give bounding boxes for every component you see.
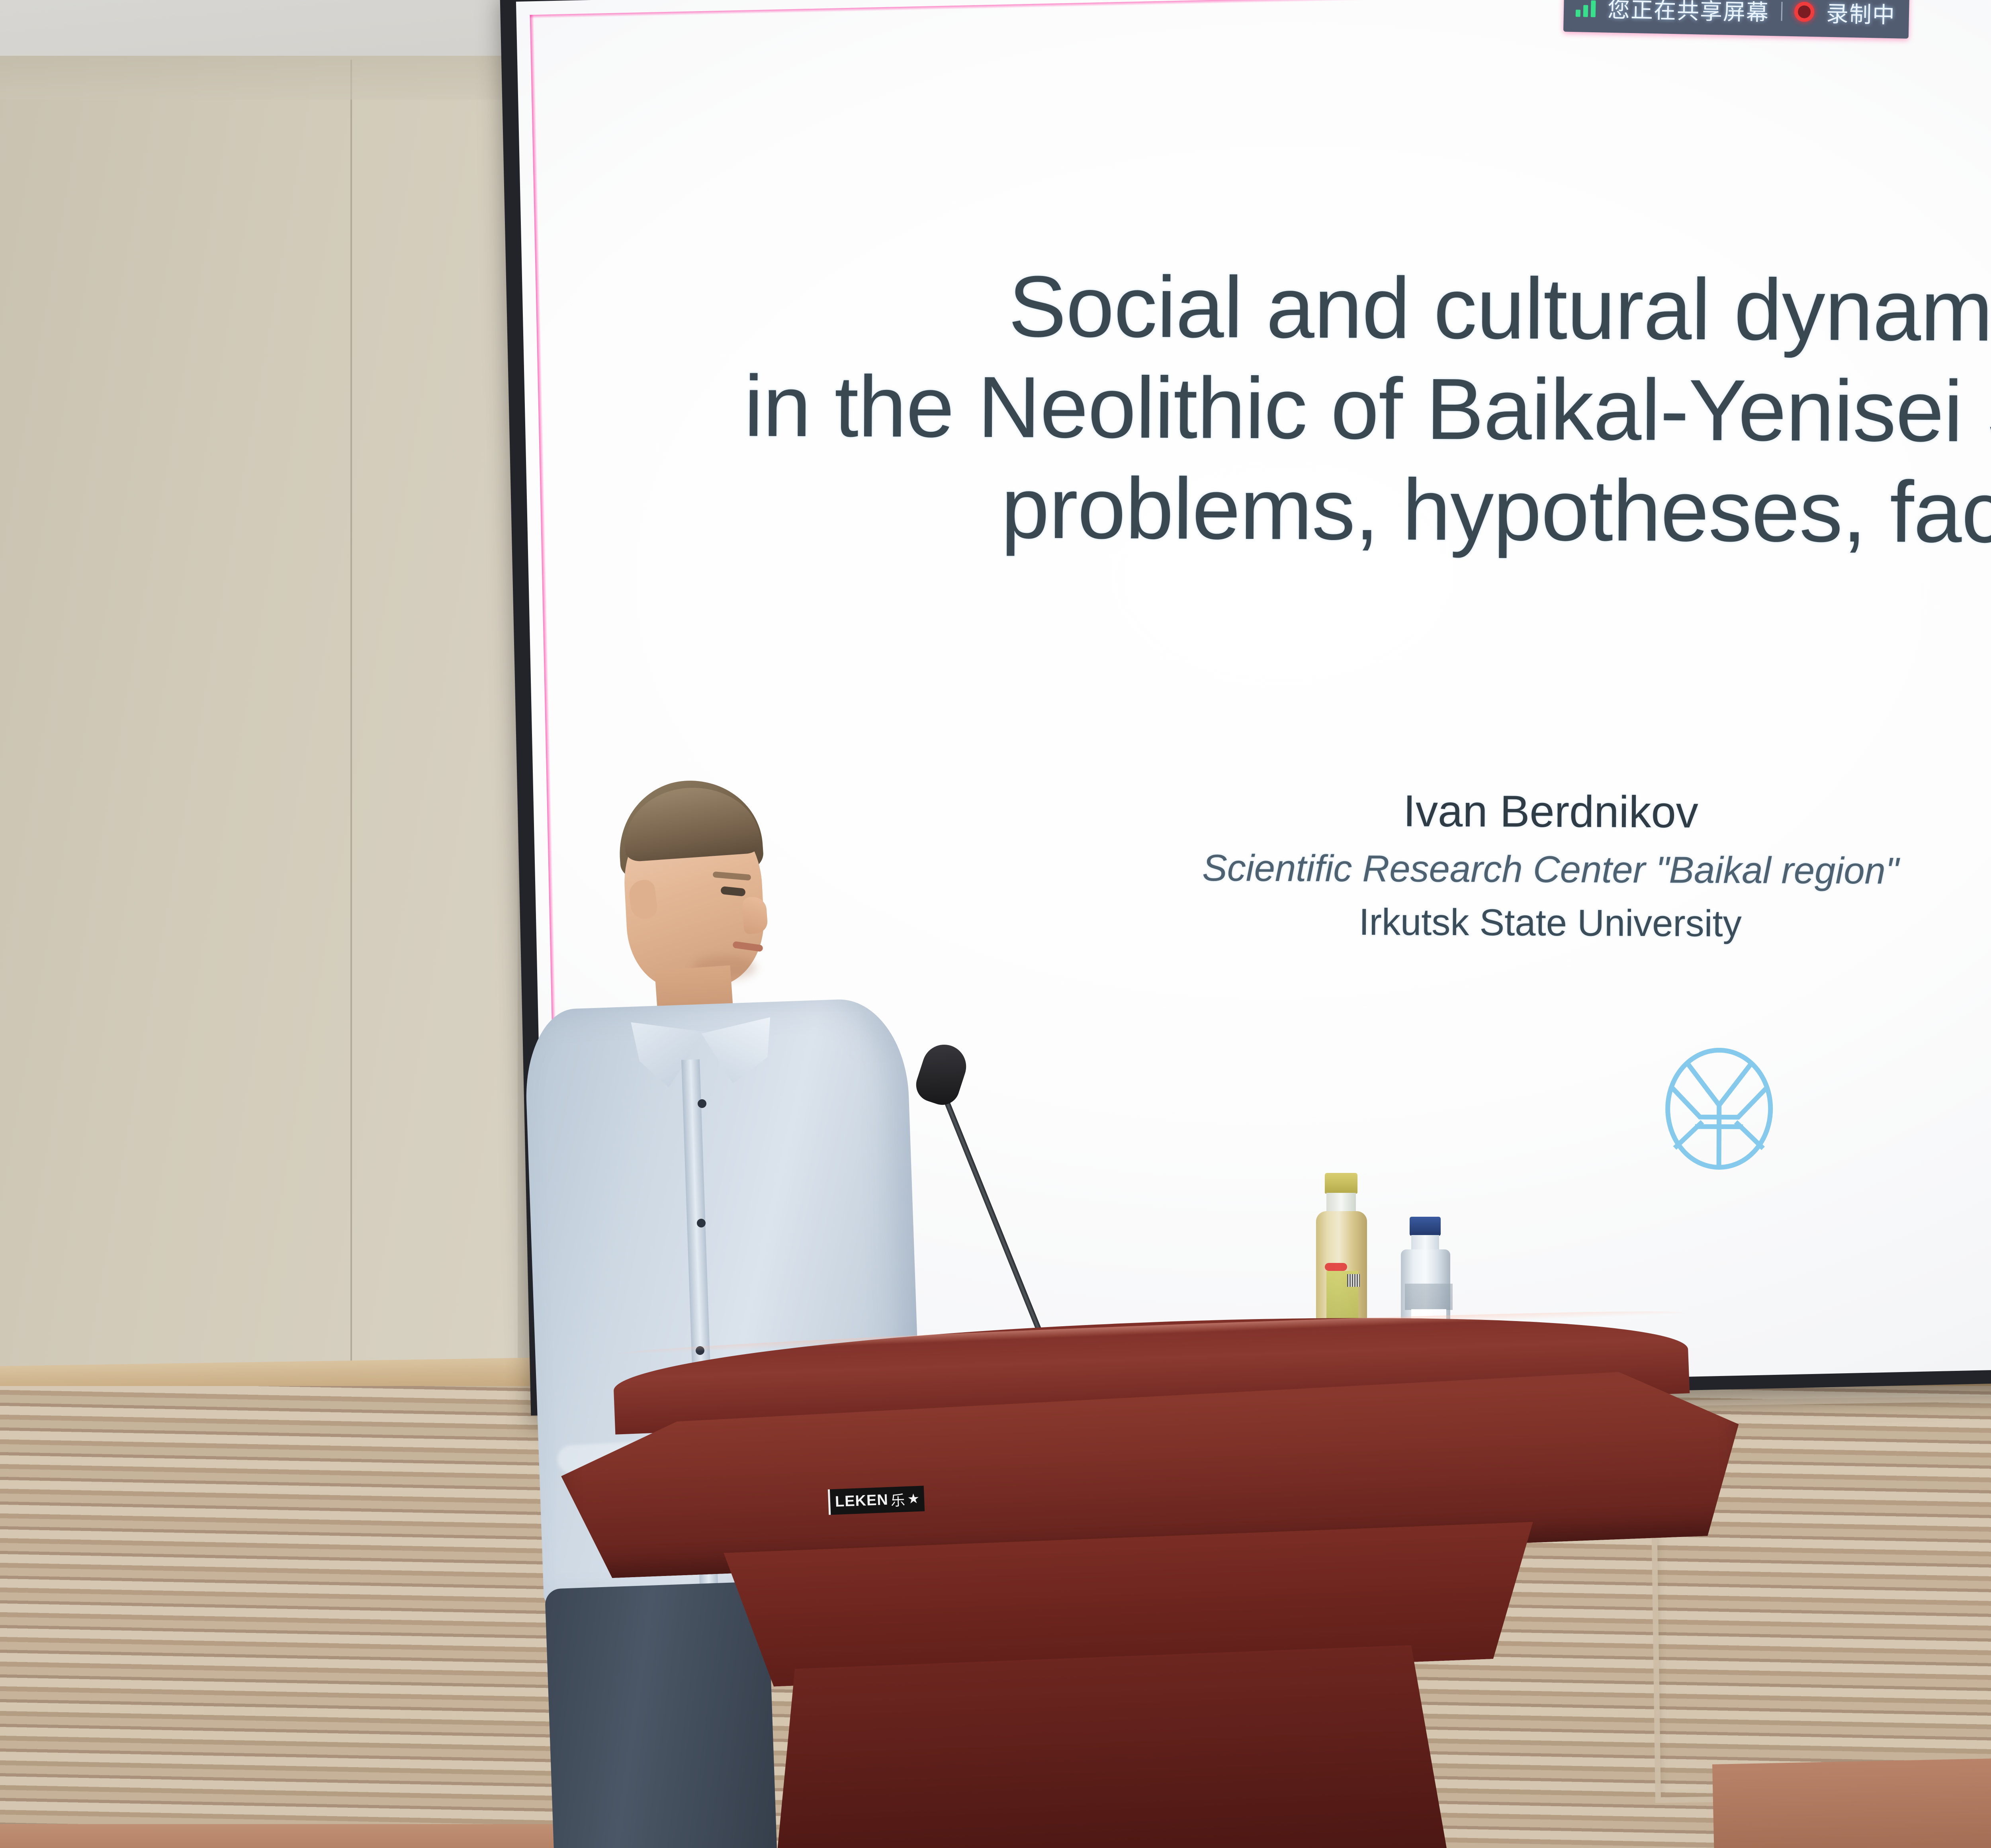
tea-bottle-cap <box>1325 1173 1357 1194</box>
slide-author-block: Ivan Berdnikov Scientific Research Cente… <box>953 781 1991 949</box>
presenter-hair-top <box>621 783 761 862</box>
wall-left-panel <box>0 56 518 1410</box>
baikal-region-emblem-icon <box>1659 1043 1779 1175</box>
slide-title: Social and cultural dynamics in the Neol… <box>704 255 1991 564</box>
podium-brand-star-icon: ★ <box>907 1491 920 1507</box>
lecture-hall-scene: Social and cultural dynamics in the Neol… <box>0 0 1991 1848</box>
water-bottle-cap <box>1410 1217 1441 1236</box>
author-organization: Scientific Research Center "Baikal regio… <box>953 842 1991 896</box>
tea-bottle-neck <box>1326 1193 1356 1214</box>
slide-title-line-1: Social and cultural dynamics <box>788 256 1991 363</box>
banner-divider <box>1781 2 1783 21</box>
podium: LEKEN 乐 ★ <box>550 1322 1816 1848</box>
floor-strip-left <box>0 1824 617 1848</box>
podium-brand-name: LEKEN <box>835 1491 888 1510</box>
podium-brand-cn: 乐 <box>890 1489 906 1510</box>
podium-base <box>753 1643 1461 1848</box>
presenter-shirt-button <box>698 1099 706 1108</box>
presenter-shirt-button <box>697 1219 706 1227</box>
signal-bars-icon <box>1576 0 1596 17</box>
slide-title-line-3: problems, hypotheses, facts <box>755 457 1991 564</box>
slide-title-line-2: in the Neolithic of Baikal-Yenisei Siber… <box>704 356 1991 464</box>
share-status-text: 您正在共享屏幕 <box>1607 0 1770 27</box>
water-bottle-label-top <box>1405 1284 1453 1310</box>
presenter-nose <box>742 896 768 934</box>
author-name: Ivan Berdnikov <box>953 781 1991 842</box>
recording-status-text: 录制中 <box>1826 0 1896 29</box>
water-bottle-neck <box>1411 1235 1439 1251</box>
qr-code-icon <box>1347 1274 1360 1287</box>
wall-seam-left <box>350 60 352 1406</box>
record-dot-icon <box>1794 2 1815 22</box>
author-university: Irkutsk State University <box>953 896 1991 950</box>
podium-brand-label: LEKEN 乐 ★ <box>828 1486 925 1515</box>
tea-bottle-red-mark <box>1325 1263 1347 1271</box>
